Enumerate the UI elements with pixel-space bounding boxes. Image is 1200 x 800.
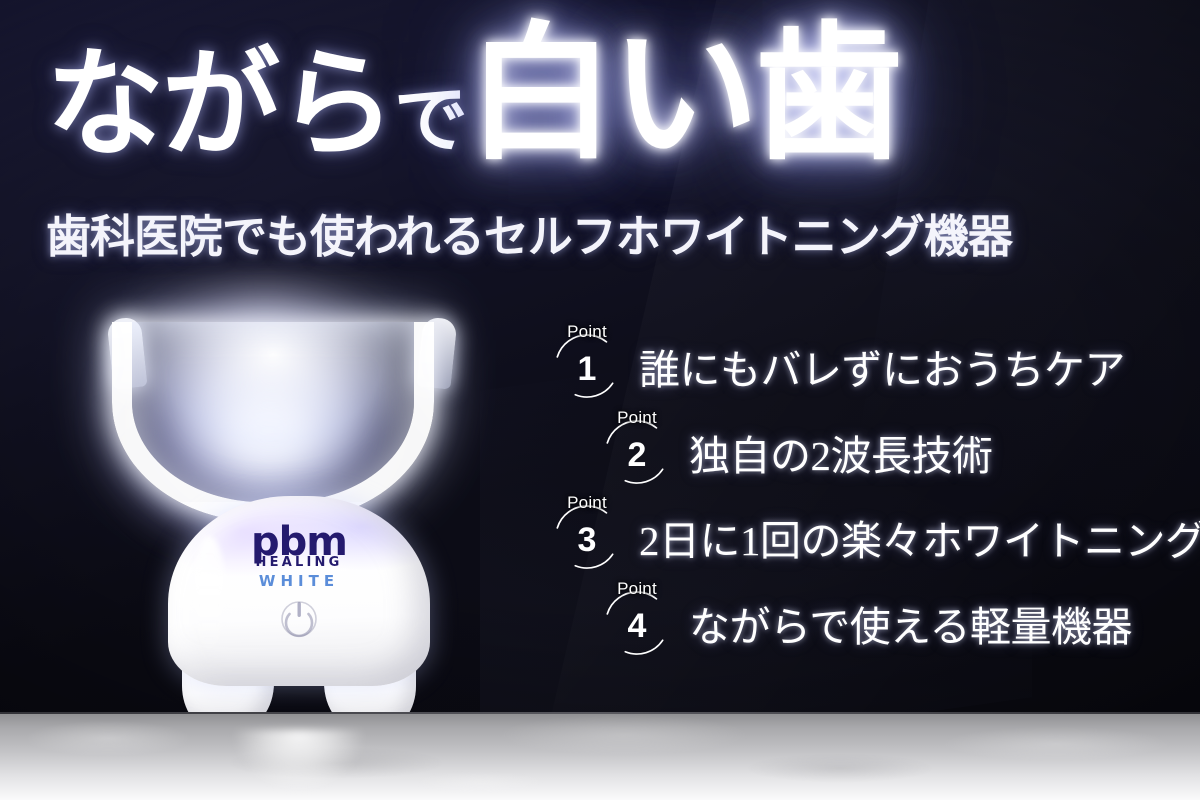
point-text-1: 誰にもバレずにおうちケア — [639, 336, 1125, 396]
floor-surface — [0, 712, 1200, 800]
point-badge-3: Point 3 — [553, 503, 621, 571]
point-badge-number-3: 3 — [553, 523, 621, 557]
point-badge-number-4: 4 — [603, 609, 671, 643]
device-reflection — [214, 730, 384, 800]
point-text-4: ながらで使える軽量機器 — [689, 593, 1132, 653]
point-item-2: Point 2 独自の2波長技術 — [603, 418, 993, 486]
point-badge-label-1: Point — [564, 322, 610, 342]
point-badge-2: Point 2 — [603, 418, 671, 486]
point-text-2: 独自の2波長技術 — [689, 422, 993, 482]
point-badge-label-2: Point — [614, 408, 660, 428]
point-item-1: Point 1 誰にもバレずにおうちケア — [553, 332, 1125, 400]
point-badge-4: Point 4 — [603, 589, 671, 657]
point-badge-label-3: Point — [564, 493, 610, 513]
point-badge-number-2: 2 — [603, 438, 671, 472]
point-item-4: Point 4 ながらで使える軽量機器 — [603, 589, 1132, 657]
promo-banner: pbm HEALING WHITE ながらで白い歯 歯科医院でも使われるセルフホ… — [0, 0, 1200, 800]
point-badge-number-1: 1 — [553, 352, 621, 386]
point-item-3: Point 3 2日に1回の楽々ホワイトニング — [553, 503, 1200, 571]
point-badge-1: Point 1 — [553, 332, 621, 400]
point-text-3: 2日に1回の楽々ホワイトニング — [639, 507, 1200, 567]
point-badge-label-4: Point — [614, 579, 660, 599]
floor-marble-texture — [0, 712, 1200, 800]
point-list: Point 1 誰にもバレずにおうちケア Point 2 独自の2波長技術 Po… — [0, 0, 1200, 800]
